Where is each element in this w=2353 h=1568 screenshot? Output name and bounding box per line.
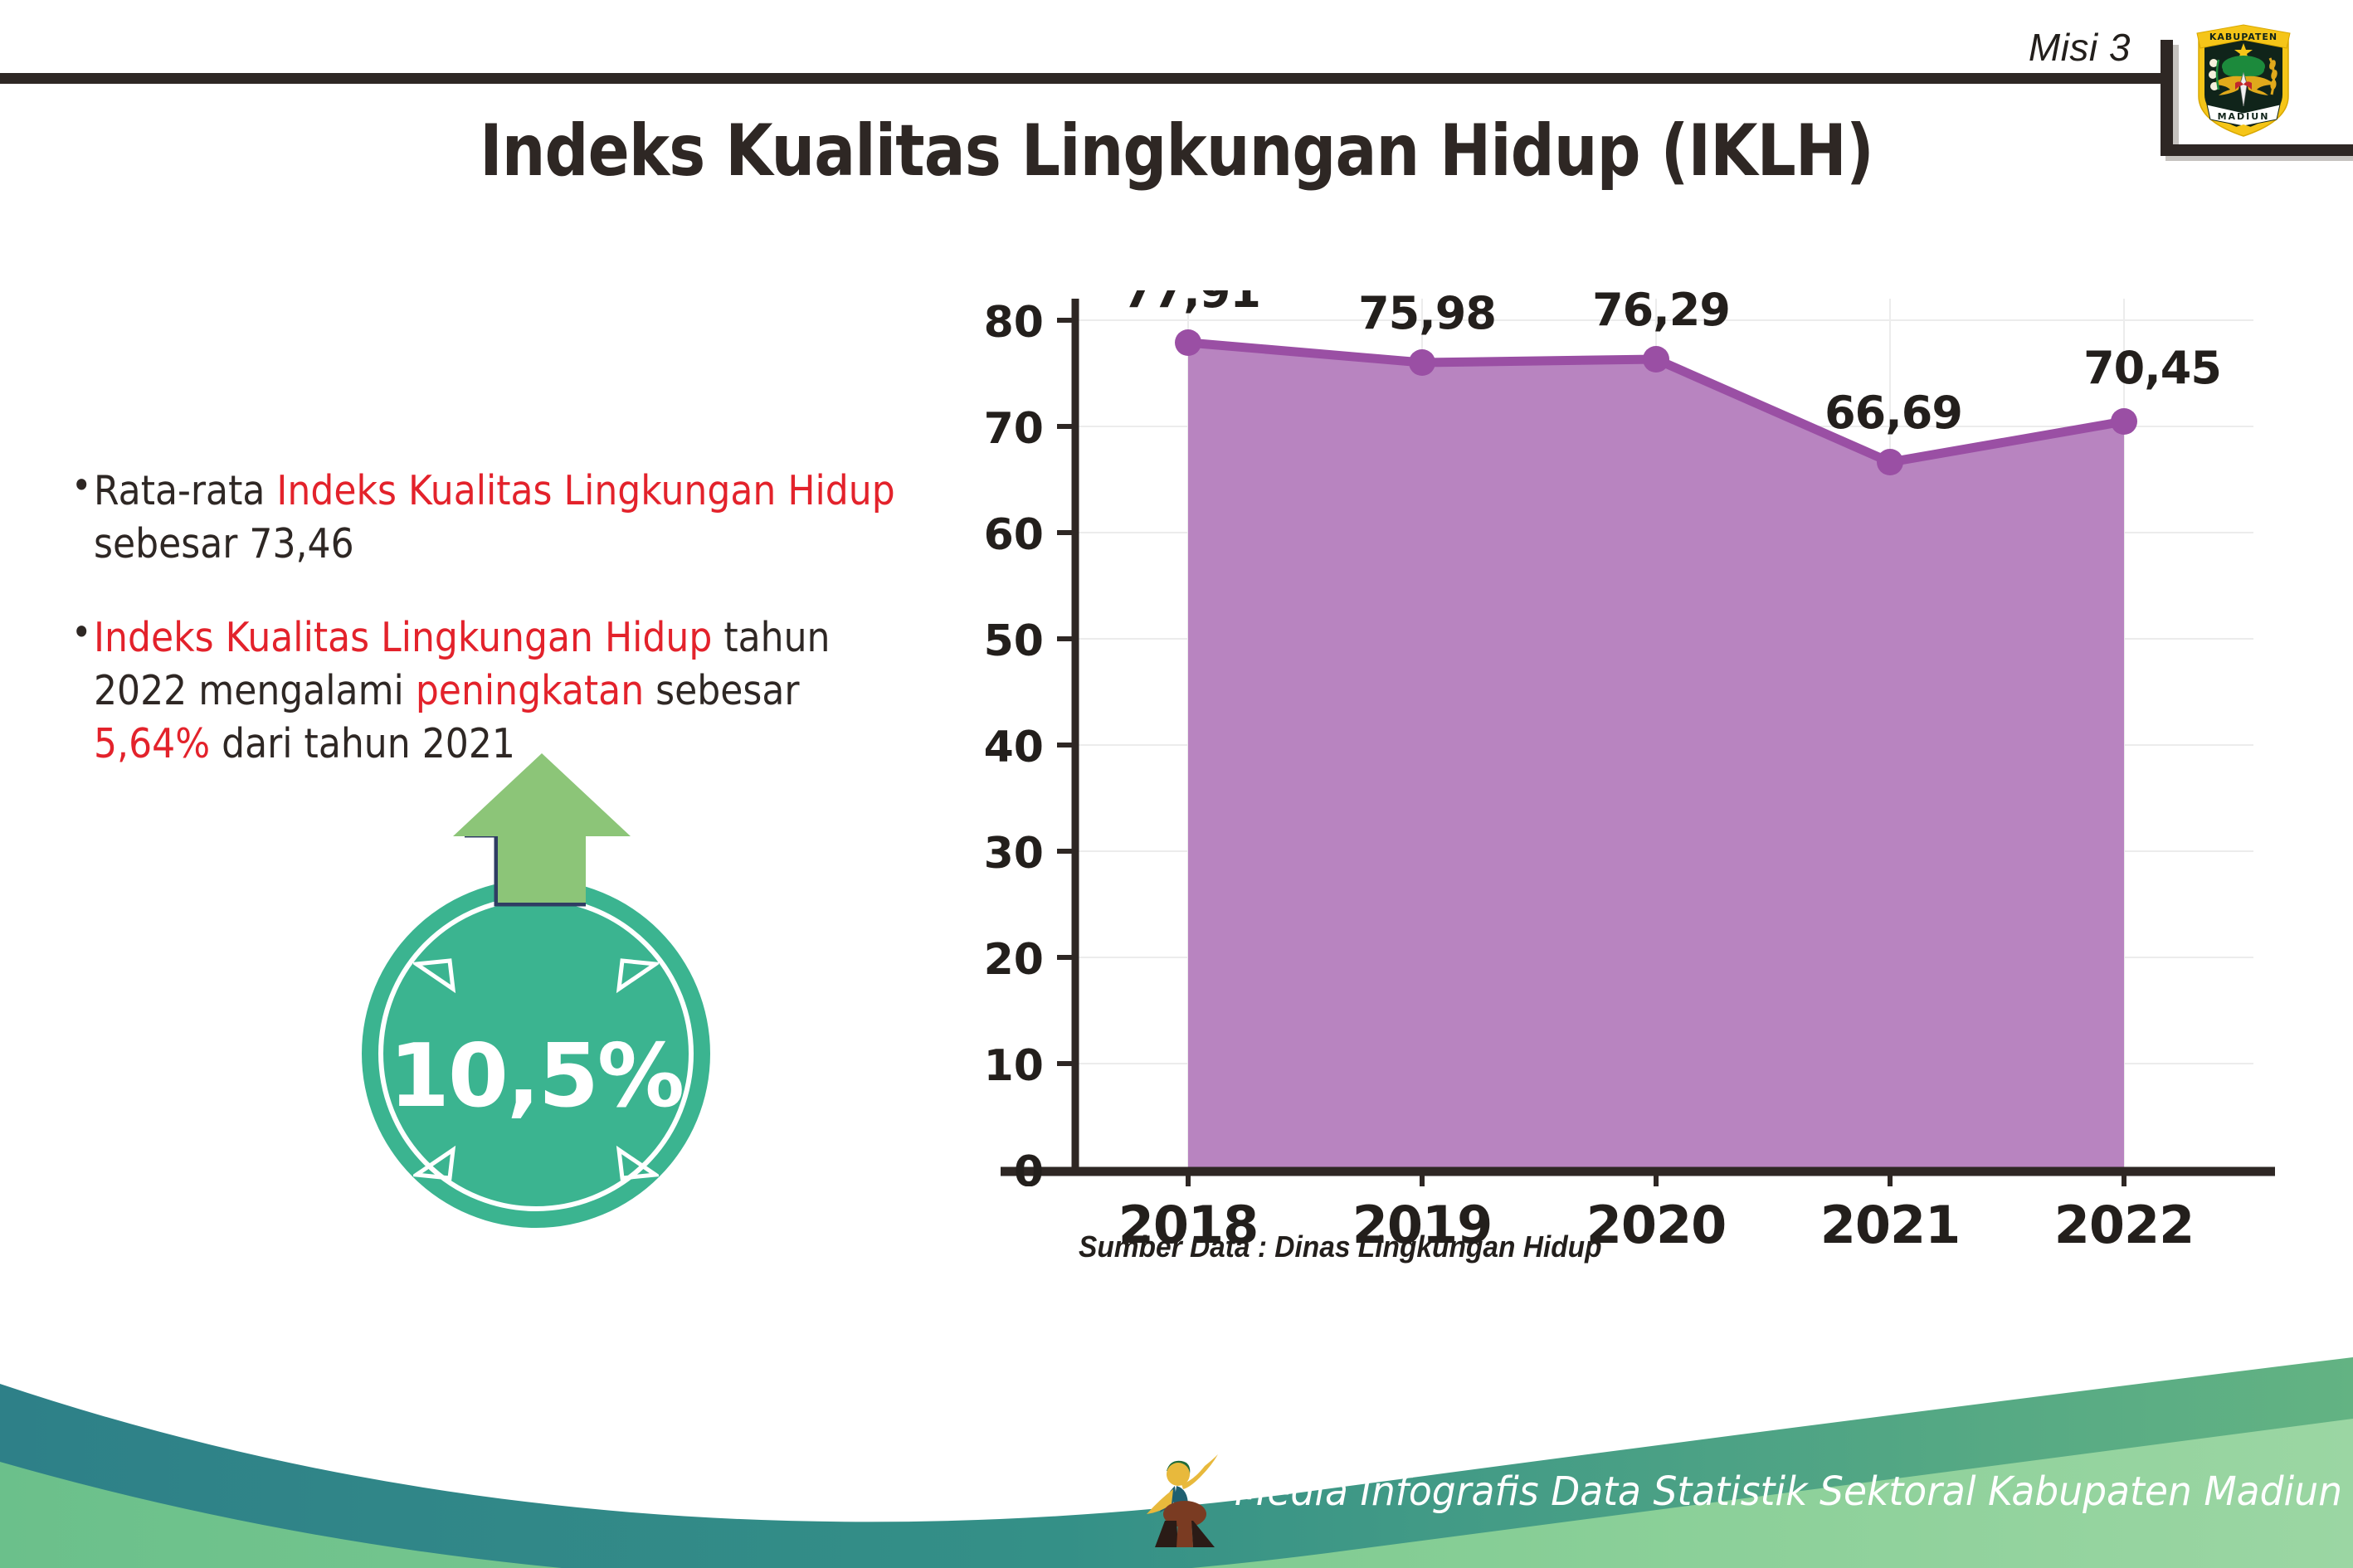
- increase-badge: 10,5%: [322, 747, 753, 1228]
- iklh-area-chart: 80 70 60 50 40 30 20 10 0 77,91 75,98 76…: [984, 290, 2278, 1186]
- y-tick-label: 10: [984, 1041, 1044, 1091]
- footer-caption: Media Infografis Data Statistik Sektoral…: [1235, 1468, 2353, 1515]
- x-tick-label: 2020: [1586, 1195, 1727, 1255]
- mission-label: Misi 3: [2029, 25, 2131, 70]
- reog-dancer-mascot-icon: [1142, 1441, 1228, 1553]
- chart-source-note: Sumber Data : Dinas Lingkungan Hidup: [1079, 1230, 1602, 1264]
- badge-value: 10,5%: [362, 1033, 710, 1120]
- header-rule: [0, 73, 2167, 84]
- page-title: Indeks Kualitas Lingkungan Hidup (IKLH): [165, 110, 2189, 192]
- data-label: 76,29: [1592, 290, 1730, 336]
- y-tick-label: 30: [984, 829, 1044, 879]
- x-tick-label: 2021: [1820, 1195, 1961, 1255]
- badge-tick-bottom-right: [614, 1145, 659, 1183]
- bullet-1-part-3: sebesar 73,46: [94, 520, 354, 567]
- arrow-up-icon: [446, 747, 637, 962]
- data-label: 75,98: [1358, 290, 1496, 339]
- bullet-2-part-3: peningkatan: [416, 667, 644, 714]
- bullet-2-part-4: sebesar: [644, 667, 799, 714]
- svg-text:KABUPATEN: KABUPATEN: [2209, 32, 2277, 42]
- data-label: 70,45: [2083, 342, 2221, 394]
- y-tick-label: 50: [984, 616, 1044, 666]
- y-tick-label: 70: [984, 404, 1044, 454]
- kabupaten-madiun-emblem-icon: KABUPATEN MA: [2190, 15, 2297, 139]
- bullet-1-part-1: Rata-rata: [94, 467, 276, 514]
- data-label: 77,91: [1123, 290, 1260, 318]
- bullet-2-part-1: Indeks Kualitas Lingkungan Hidup: [94, 614, 712, 661]
- y-tick-label: 20: [984, 935, 1044, 985]
- badge-tick-bottom-left: [413, 1145, 458, 1183]
- bullet-1-part-2: Indeks Kualitas Lingkungan Hidup: [276, 467, 894, 514]
- list-item: Rata-rata Indeks Kualitas Lingkungan Hid…: [71, 465, 900, 570]
- infographic-slide: Misi 3 KABUPATEN: [0, 0, 2353, 1568]
- svg-text:MADIUN: MADIUN: [2218, 111, 2270, 122]
- chart-y-tick-labels: 80 70 60 50 40 30 20 10 0: [984, 298, 1044, 1186]
- y-tick-label: 80: [984, 298, 1044, 348]
- y-tick-label: 60: [984, 510, 1044, 560]
- y-tick-label: 40: [984, 723, 1044, 772]
- bullet-2-part-5: 5,64%: [94, 720, 210, 767]
- data-label: 66,69: [1824, 387, 1962, 439]
- x-tick-label: 2022: [2054, 1195, 2195, 1255]
- chart-area-fill: [1188, 343, 2124, 1170]
